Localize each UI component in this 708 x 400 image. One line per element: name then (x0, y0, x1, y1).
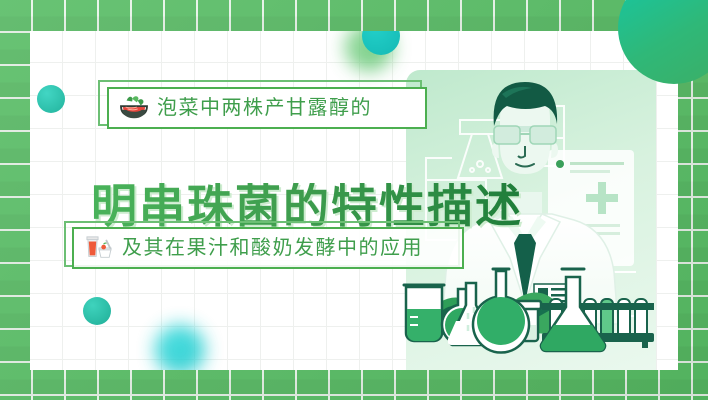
white-card: 明串珠菌的特性描述 明串珠菌的特性描述 泡菜中两株产甘露醇的 (30, 31, 678, 370)
erlenmeyer-flask-large (541, 269, 605, 351)
blob-bottom-blur (155, 325, 205, 370)
beaker-large (404, 285, 444, 341)
kimchi-bowl-icon (119, 95, 149, 121)
subtitle-bottom-text: 及其在果汁和酸奶发酵中的应用 (122, 238, 423, 258)
juice-yogurt-icon (84, 235, 114, 261)
round-flask-large (473, 269, 529, 353)
subtitle-top-text: 泡菜中两株产甘露醇的 (157, 98, 372, 118)
blob-bottom-teal (83, 297, 111, 325)
blob-top-left-teal (37, 85, 65, 113)
poster-root: 明串珠菌的特性描述 明串珠菌的特性描述 泡菜中两株产甘露醇的 (0, 0, 708, 400)
subtitle-bottom-box: 及其在果汁和酸奶发酵中的应用 (72, 227, 464, 269)
lab-glassware-right (448, 255, 678, 370)
subtitle-top-box: 泡菜中两株产甘露醇的 (107, 87, 427, 129)
